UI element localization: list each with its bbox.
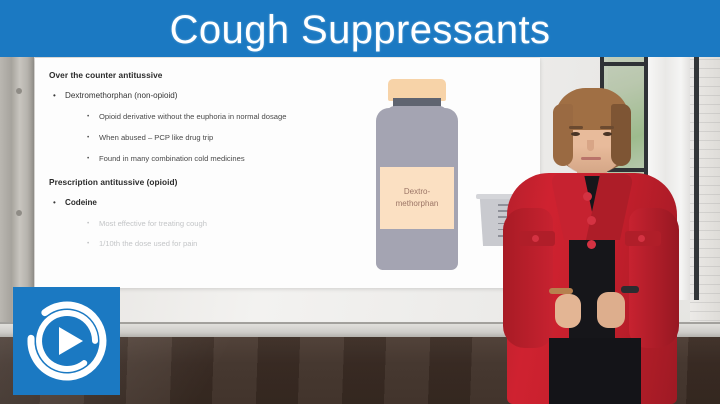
presentation-slide: Over the counter antitussive • Dextromet… xyxy=(35,58,540,288)
bullet-item: • Opioid derivative without the euphoria… xyxy=(49,111,355,122)
bullet-text: Found in many combination cold medicines xyxy=(99,153,245,164)
bottle-label-line1: Dextro- xyxy=(404,187,430,196)
bullet-text: Opioid derivative without the euphoria i… xyxy=(99,111,286,122)
bullet-marker-icon: • xyxy=(87,153,99,164)
presenter-mouth xyxy=(581,157,601,160)
presenter-sleeve-right xyxy=(629,208,679,348)
presenter-jacket-button xyxy=(587,240,596,249)
bullet-item-faded: • 1/10th the dose used for pain xyxy=(49,238,355,249)
presenter-hair-left xyxy=(553,104,573,166)
presenter-pocket-button xyxy=(532,235,539,242)
presenter-hair-right xyxy=(611,104,631,166)
bullet-marker-icon: • xyxy=(53,197,65,208)
slide-heading-otc: Over the counter antitussive xyxy=(49,70,355,80)
page-title: Cough Suppressants xyxy=(170,10,551,50)
play-logo[interactable] xyxy=(13,287,120,395)
presenter-hand-right xyxy=(597,292,625,328)
bullet-text: Dextromethorphan (non-opioid) xyxy=(65,90,177,101)
presenter-eye-left xyxy=(571,132,580,136)
bullet-marker-icon: • xyxy=(87,238,99,249)
bullet-item: • Codeine xyxy=(49,197,355,208)
bottle-label-text: Dextro- methorphan xyxy=(396,186,439,210)
bullet-marker-icon: • xyxy=(87,218,99,229)
bottle-label-line2: methorphan xyxy=(396,199,439,208)
presenter-figure xyxy=(497,88,687,404)
presenter-nose xyxy=(587,140,594,151)
slide-heading-rx: Prescription antitussive (opioid) xyxy=(49,177,355,187)
bullet-text: Codeine xyxy=(65,197,97,208)
bullet-item: • Dextromethorphan (non-opioid) xyxy=(49,90,355,101)
presenter-eyebrow-right xyxy=(600,126,614,129)
bullet-marker-icon: • xyxy=(87,132,99,143)
bullet-marker-icon: • xyxy=(87,111,99,122)
presenter-sleeve-left xyxy=(503,208,553,348)
bullet-text: Most effective for treating cough xyxy=(99,218,207,229)
bullet-item: • When abused – PCP like drug trip xyxy=(49,132,355,143)
bullet-item-faded: • Most effective for treating cough xyxy=(49,218,355,229)
presenter-watch xyxy=(621,286,639,293)
bullet-item: • Found in many combination cold medicin… xyxy=(49,153,355,164)
presenter-eyebrow-left xyxy=(569,126,583,129)
presenter-jacket-button xyxy=(587,216,596,225)
presenter-jacket-button xyxy=(583,192,592,201)
presenter-eye-right xyxy=(603,132,612,136)
slide-text-column: Over the counter antitussive • Dextromet… xyxy=(35,58,355,288)
bottle-label: Dextro- methorphan xyxy=(380,167,454,229)
title-banner: Cough Suppressants xyxy=(0,0,720,57)
bullet-text: When abused – PCP like drug trip xyxy=(99,132,213,143)
presenter-skirt xyxy=(549,338,641,404)
bullet-marker-icon: • xyxy=(53,90,65,101)
presenter-hand-left xyxy=(555,294,581,328)
presenter-pocket-button xyxy=(638,235,645,242)
play-circle-icon xyxy=(25,299,109,383)
bullet-text: 1/10th the dose used for pain xyxy=(99,238,197,249)
